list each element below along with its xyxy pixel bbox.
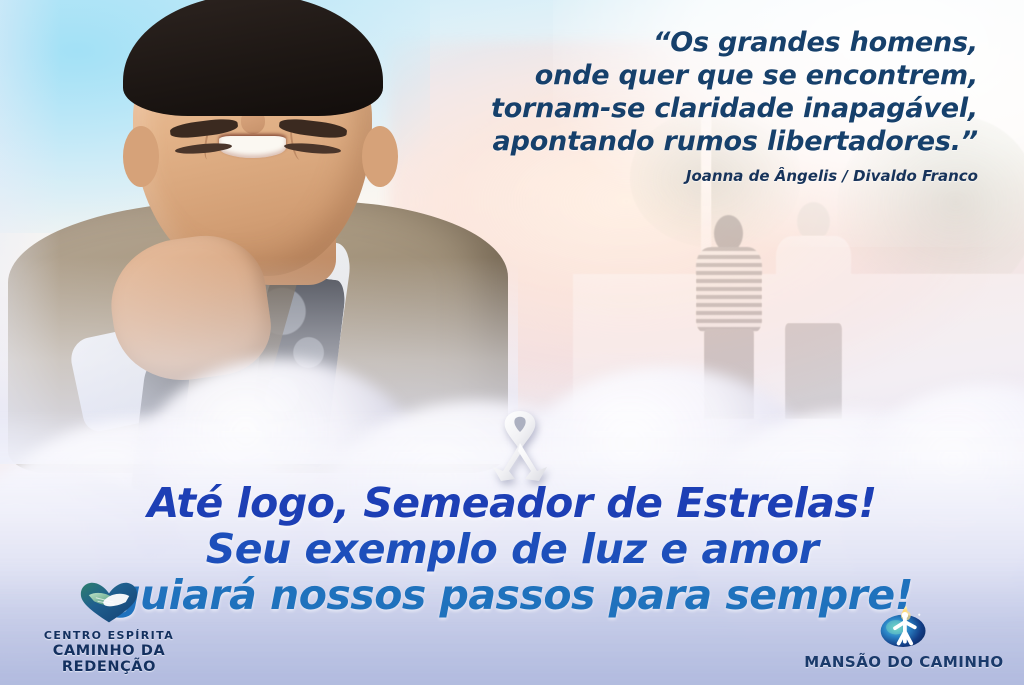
ear-left [123,126,159,187]
photo-person-legs [704,329,754,419]
hair [123,0,383,116]
logo-centro-espirita-caminho-da-redencao: CENTRO ESPÍRITA CAMINHO DA REDENÇÃO [14,581,204,675]
headline-line-1: Até logo, Semeador de Estrelas! [0,483,1024,525]
quote-attribution: Joanna de Ângelis / Divaldo Franco [418,167,978,185]
photo-person-striped-shirt [696,215,762,419]
tribute-poster: “Os grandes homens, onde quer que se enc… [0,0,1024,685]
headline-line-2: Seu exemplo de luz e amor [0,529,1024,571]
logo-left-line-1: CENTRO ESPÍRITA [14,630,204,642]
mourning-ribbon-icon [489,409,551,483]
logo-left-line-2: CAMINHO DA REDENÇÃO [14,643,204,675]
photo-person-head [714,215,743,252]
heart-hands-icon [14,581,204,630]
quote-line-2: onde quer que se encontrem, [418,59,978,92]
globe-figure-torch-icon [794,602,1014,654]
photo-person-torso [776,236,851,327]
quote-line-4: apontando rumos libertadores.” [418,125,978,158]
quote-line-1: “Os grandes homens, [418,26,978,59]
microphone-body [131,366,191,495]
photo-person-legs [785,323,842,418]
logo-right-line-1: MANSÃO DO CAMINHO [794,654,1014,671]
photo-person-head [797,202,830,241]
photo-person-torso [696,247,762,333]
ear-right [362,126,398,187]
quote-line-3: tornam-se claridade inapagável, [418,92,978,125]
logo-mansao-do-caminho: MANSÃO DO CAMINHO [794,602,1014,671]
quote-block: “Os grandes homens, onde quer que se enc… [418,26,978,185]
photo-person-white-shirt [776,202,851,419]
